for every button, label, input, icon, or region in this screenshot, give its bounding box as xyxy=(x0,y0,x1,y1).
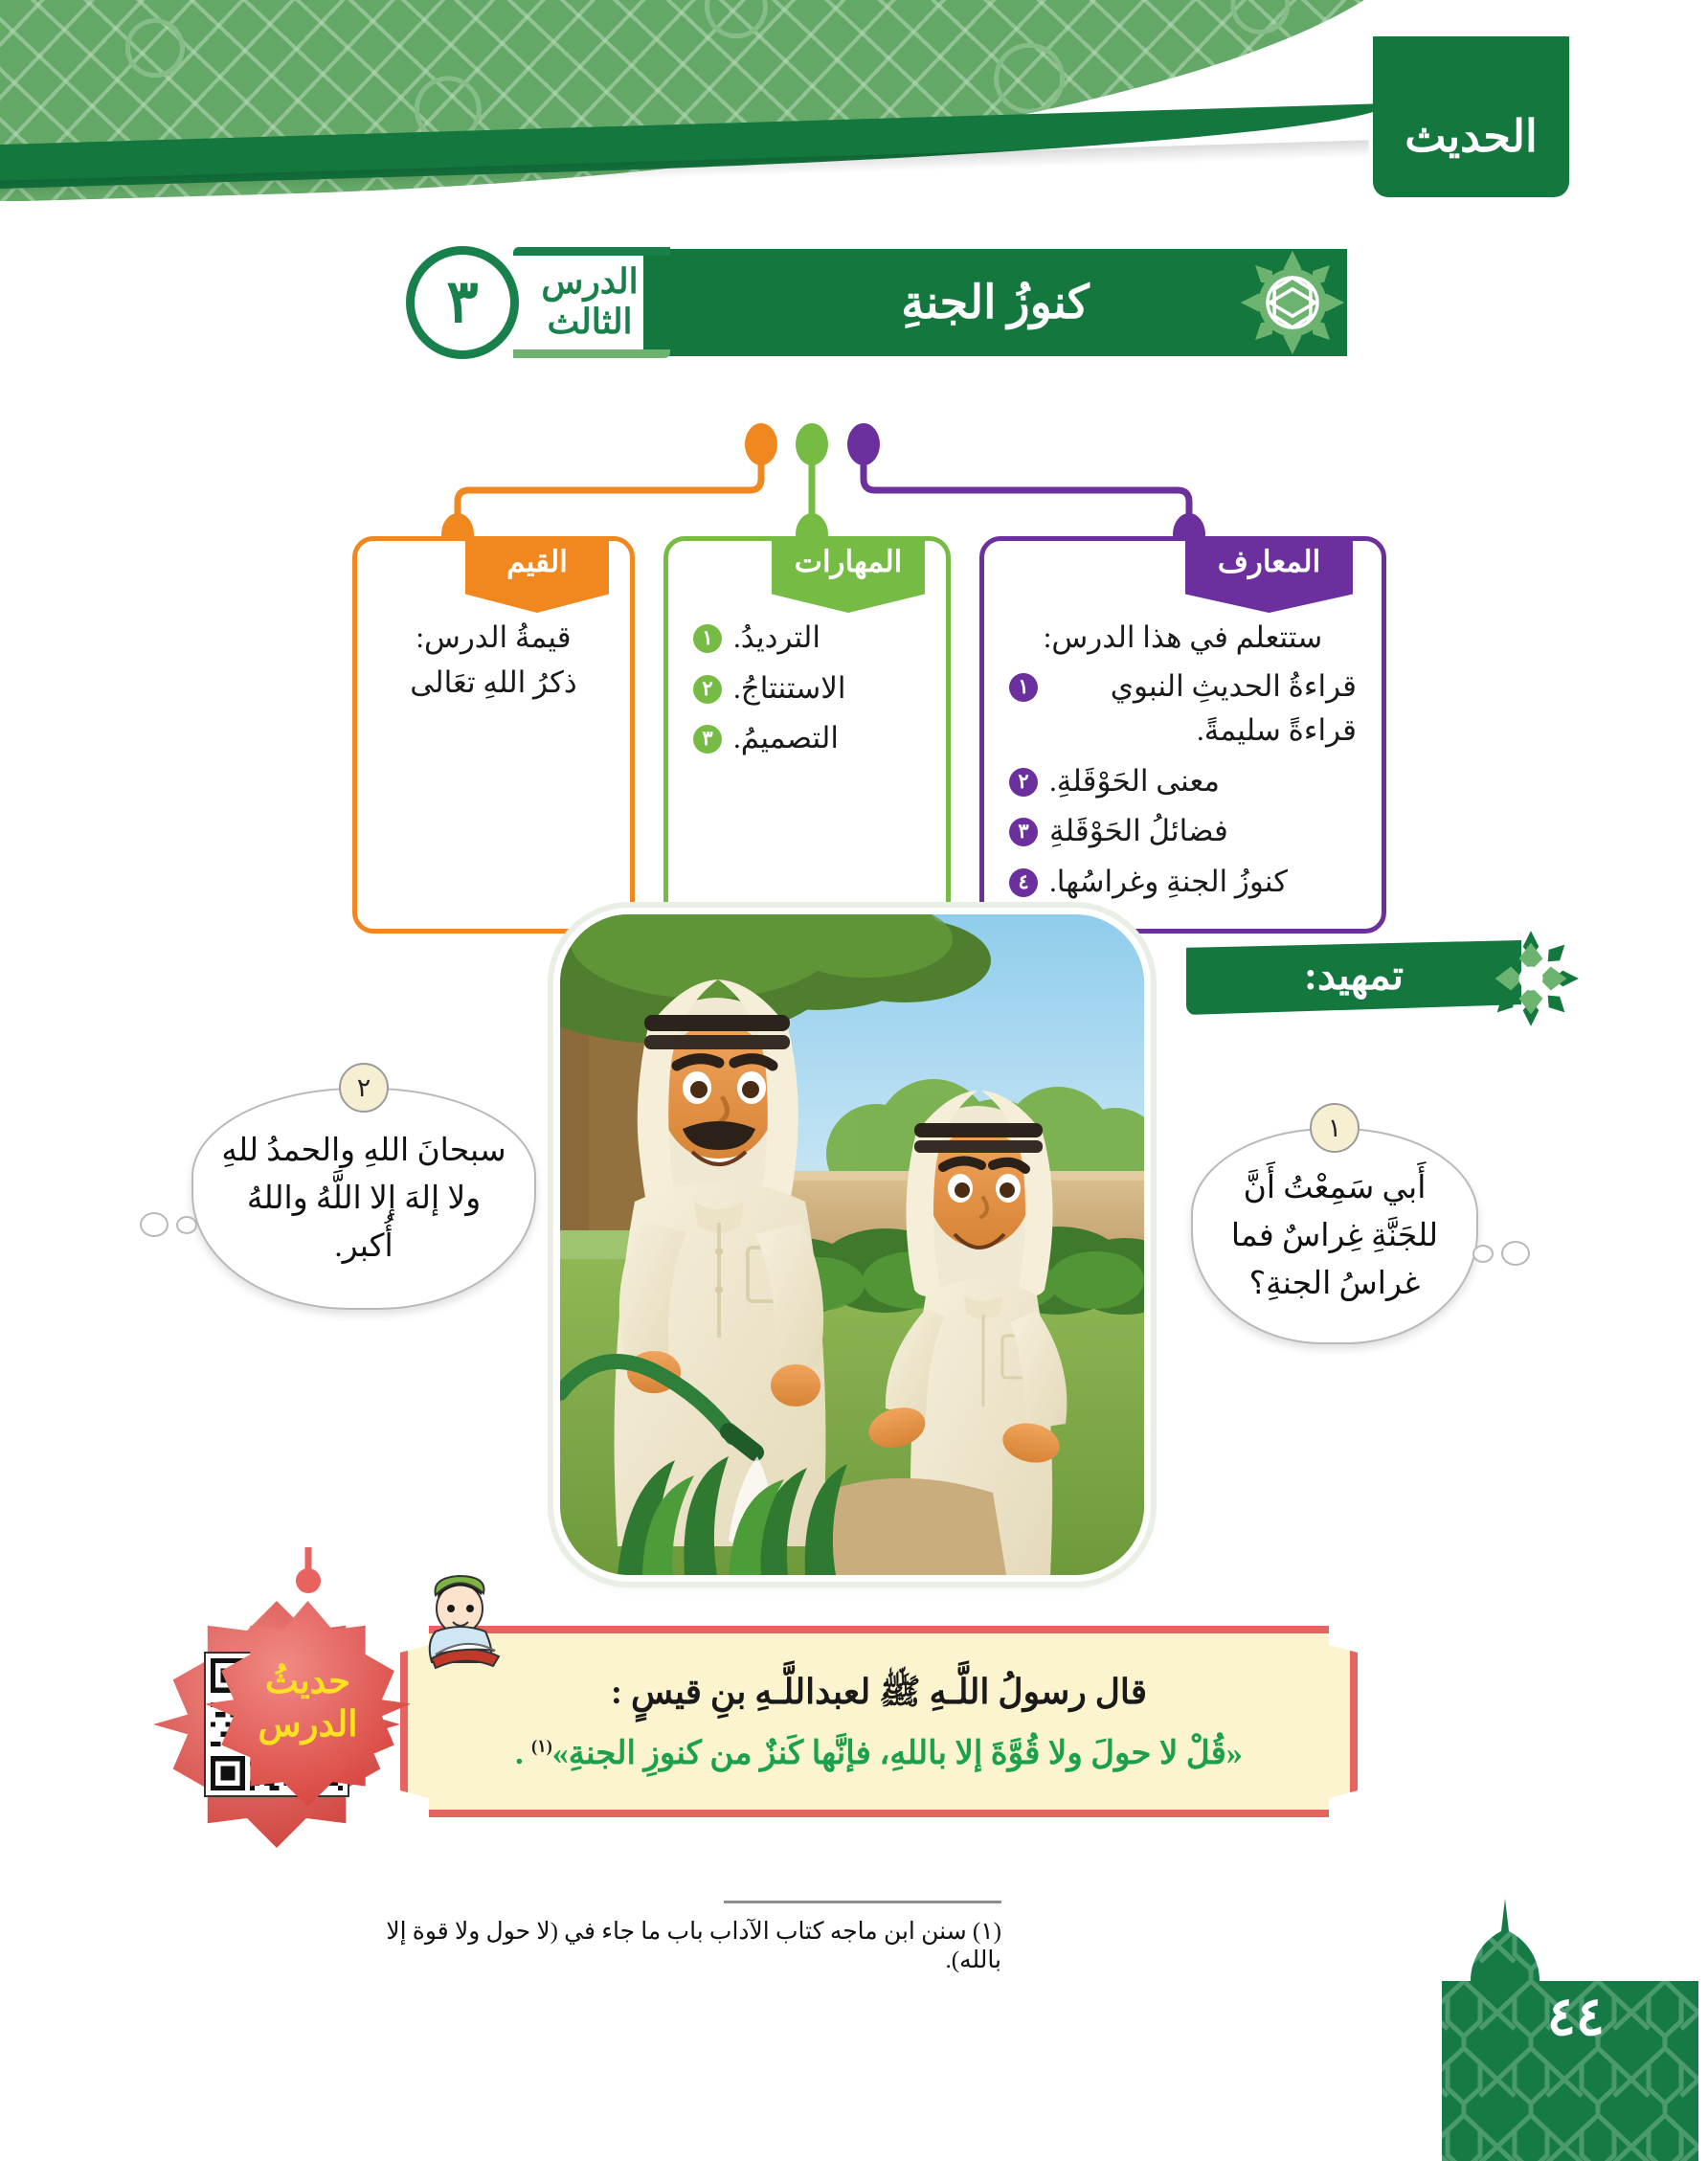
skills-item-text: الترديدُ. xyxy=(733,616,820,661)
rosette-ornament-icon xyxy=(1481,929,1581,1028)
list-item: الاستنتاجُ. ٢ xyxy=(693,666,921,711)
unit-tab-label: الحديث xyxy=(1405,110,1538,162)
knowledge-list: قراءةُ الحديثِ النبوي قراءةً سليمةً. ١ م… xyxy=(1009,664,1357,905)
textbook-page: الحديث كنوزُ الجنةِ xyxy=(0,0,1708,2161)
bubble-cloud: أَبي سَمِعْتُ أَنَّ للجَنَّةِ غِراسٌ فما… xyxy=(1191,1128,1478,1344)
hadith-badge: حديثُ الدرس xyxy=(205,1601,411,1807)
hadith-badge-line2: الدرس xyxy=(258,1704,358,1746)
lesson-number-badge: ٣ xyxy=(406,246,519,359)
badge-plate: حديثُ الدرس xyxy=(205,1601,411,1807)
knowledge-item-text: كنوزُ الجنةِ وغراسُها. xyxy=(1049,860,1288,905)
skills-tag-label: المهارات xyxy=(795,545,902,579)
values-line1: قيمةُ الدرس: xyxy=(382,616,605,661)
boy-reading-quran-icon xyxy=(407,1559,522,1674)
lesson-label-line2: الثالث xyxy=(547,303,632,343)
footnote: (١) سنن ابن ماجه كتاب الآداب باب ما جاء … xyxy=(350,1901,1001,1974)
bubble-tail xyxy=(1472,1241,1530,1266)
badge-dot xyxy=(296,1568,321,1593)
objective-boxes: المعارف ستتعلم في هذا الدرس: قراءةُ الحد… xyxy=(352,536,1386,934)
hadith-quote-line: «قُلْ لا حولَ ولا قُوَّةَ إلا باللهِ، فإ… xyxy=(515,1734,1243,1772)
speech-bubble-boy: ١ أَبي سَمِعْتُ أَنَّ للجَنَّةِ غِراسٌ ف… xyxy=(1191,1128,1478,1344)
skills-item-number: ٢ xyxy=(693,675,722,704)
tamheed-ribbon: تمهيد: xyxy=(1186,940,1521,1015)
bubble-badge: ٢ xyxy=(339,1063,389,1113)
values-tag-label: القيم xyxy=(506,545,568,579)
speech-bubble-father: ٢ سبحانَ اللهِ والحمدُ للهِ ولا إلهَ إلا… xyxy=(191,1088,536,1310)
knowledge-item-text: قراءةُ الحديثِ النبوي قراءةً سليمةً. xyxy=(1049,664,1357,754)
skills-item-number: ١ xyxy=(693,624,722,653)
footnote-text: (١) سنن ابن ماجه كتاب الآداب باب ما جاء … xyxy=(350,1917,1001,1974)
list-item: فضائلُ الحَوْقَلةِ ٣ xyxy=(1009,809,1357,854)
list-item: التصميمُ. ٣ xyxy=(693,716,921,761)
knowledge-lead: ستتعلم في هذا الدرس: xyxy=(1009,616,1357,661)
knowledge-tag: المعارف xyxy=(1185,536,1353,588)
skills-item-text: الاستنتاجُ. xyxy=(733,666,846,711)
objectives-values-box: القيم قيمةُ الدرس: ذكرُ اللهِ تعَالى xyxy=(352,536,635,934)
skills-item-number: ٣ xyxy=(693,725,722,754)
knowledge-item-text: معنى الحَوْقَلةِ. xyxy=(1049,759,1220,804)
father-and-son-garden-image xyxy=(560,914,1144,1575)
lesson-title-row: كنوزُ الجنةِ xyxy=(406,245,1368,360)
bubble-tail xyxy=(140,1212,197,1237)
hadith-badge-line1: حديثُ xyxy=(265,1661,350,1703)
knowledge-item-number: ٣ xyxy=(1009,818,1038,846)
objective-connectors xyxy=(0,412,1708,555)
lesson-title-bar: كنوزُ الجنةِ xyxy=(643,249,1347,356)
objectives-knowledge-box: المعارف ستتعلم في هذا الدرس: قراءةُ الحد… xyxy=(979,536,1386,934)
rosette-ornament-icon xyxy=(1236,246,1349,359)
objectives-skills-box: المهارات الترديدُ. ١ الاستنتاجُ. ٢ التصم… xyxy=(663,536,951,934)
hadith-intro: قال رسولُ اللَّـهِ ﷺ لعبداللَّـهِ بنِ قي… xyxy=(611,1671,1147,1721)
knowledge-tag-label: المعارف xyxy=(1218,545,1321,579)
list-item: قراءةُ الحديثِ النبوي قراءةً سليمةً. ١ xyxy=(1009,664,1357,754)
bubble-text: سبحانَ اللهِ والحمدُ للهِ ولا إلهَ إلا ا… xyxy=(218,1127,509,1271)
tamheed-label: تمهيد: xyxy=(1304,952,1404,1000)
hadith-footnote-marker: (١) xyxy=(531,1737,552,1756)
tamheed-banner: تمهيد: xyxy=(1186,940,1521,1015)
values-tag: القيم xyxy=(465,536,609,588)
knowledge-item-number: ٢ xyxy=(1009,768,1038,797)
bubble-cloud: سبحانَ اللهِ والحمدُ للهِ ولا إلهَ إلا ا… xyxy=(191,1088,536,1310)
lesson-number: ٣ xyxy=(446,273,478,332)
list-item: معنى الحَوْقَلةِ. ٢ xyxy=(1009,759,1357,804)
page-number: ٤٤ xyxy=(1547,1986,1605,2048)
page-title: كنوزُ الجنةِ xyxy=(901,276,1089,329)
skills-tag: المهارات xyxy=(772,536,925,588)
list-item: الترديدُ. ١ xyxy=(693,616,921,661)
knowledge-item-number: ٤ xyxy=(1009,868,1038,897)
hadith-quote: «قُلْ لا حولَ ولا قُوَّةَ إلا باللهِ، فإ… xyxy=(552,1736,1243,1771)
lesson-label-line1: الدرس xyxy=(541,262,638,303)
lesson-label: الدرس الثالث xyxy=(519,245,661,360)
bubble-text: أَبي سَمِعْتُ أَنَّ للجَنَّةِ غِراسٌ فما… xyxy=(1218,1164,1451,1308)
lesson-illustration xyxy=(560,914,1144,1575)
knowledge-item-text: فضائلُ الحَوْقَلةِ xyxy=(1049,809,1228,854)
skills-list: الترديدُ. ١ الاستنتاجُ. ٢ التصميمُ. ٣ xyxy=(693,616,921,761)
hadith-text-box: قال رسولُ اللَّـهِ ﷺ لعبداللَّـهِ بنِ قي… xyxy=(400,1626,1358,1817)
illustration-frame xyxy=(560,914,1144,1575)
bubble-badge: ١ xyxy=(1310,1103,1360,1153)
knowledge-item-number: ١ xyxy=(1009,673,1038,702)
skills-item-text: التصميمُ. xyxy=(733,716,839,761)
hadith-plate: قال رسولُ اللَّـهِ ﷺ لعبداللَّـهِ بنِ قي… xyxy=(400,1626,1358,1817)
values-line2: ذكرُ اللهِ تعَالى xyxy=(382,661,605,706)
footnote-rule xyxy=(724,1901,1001,1903)
unit-tab: الحديث xyxy=(1373,36,1569,197)
list-item: كنوزُ الجنةِ وغراسُها. ٤ xyxy=(1009,860,1357,905)
